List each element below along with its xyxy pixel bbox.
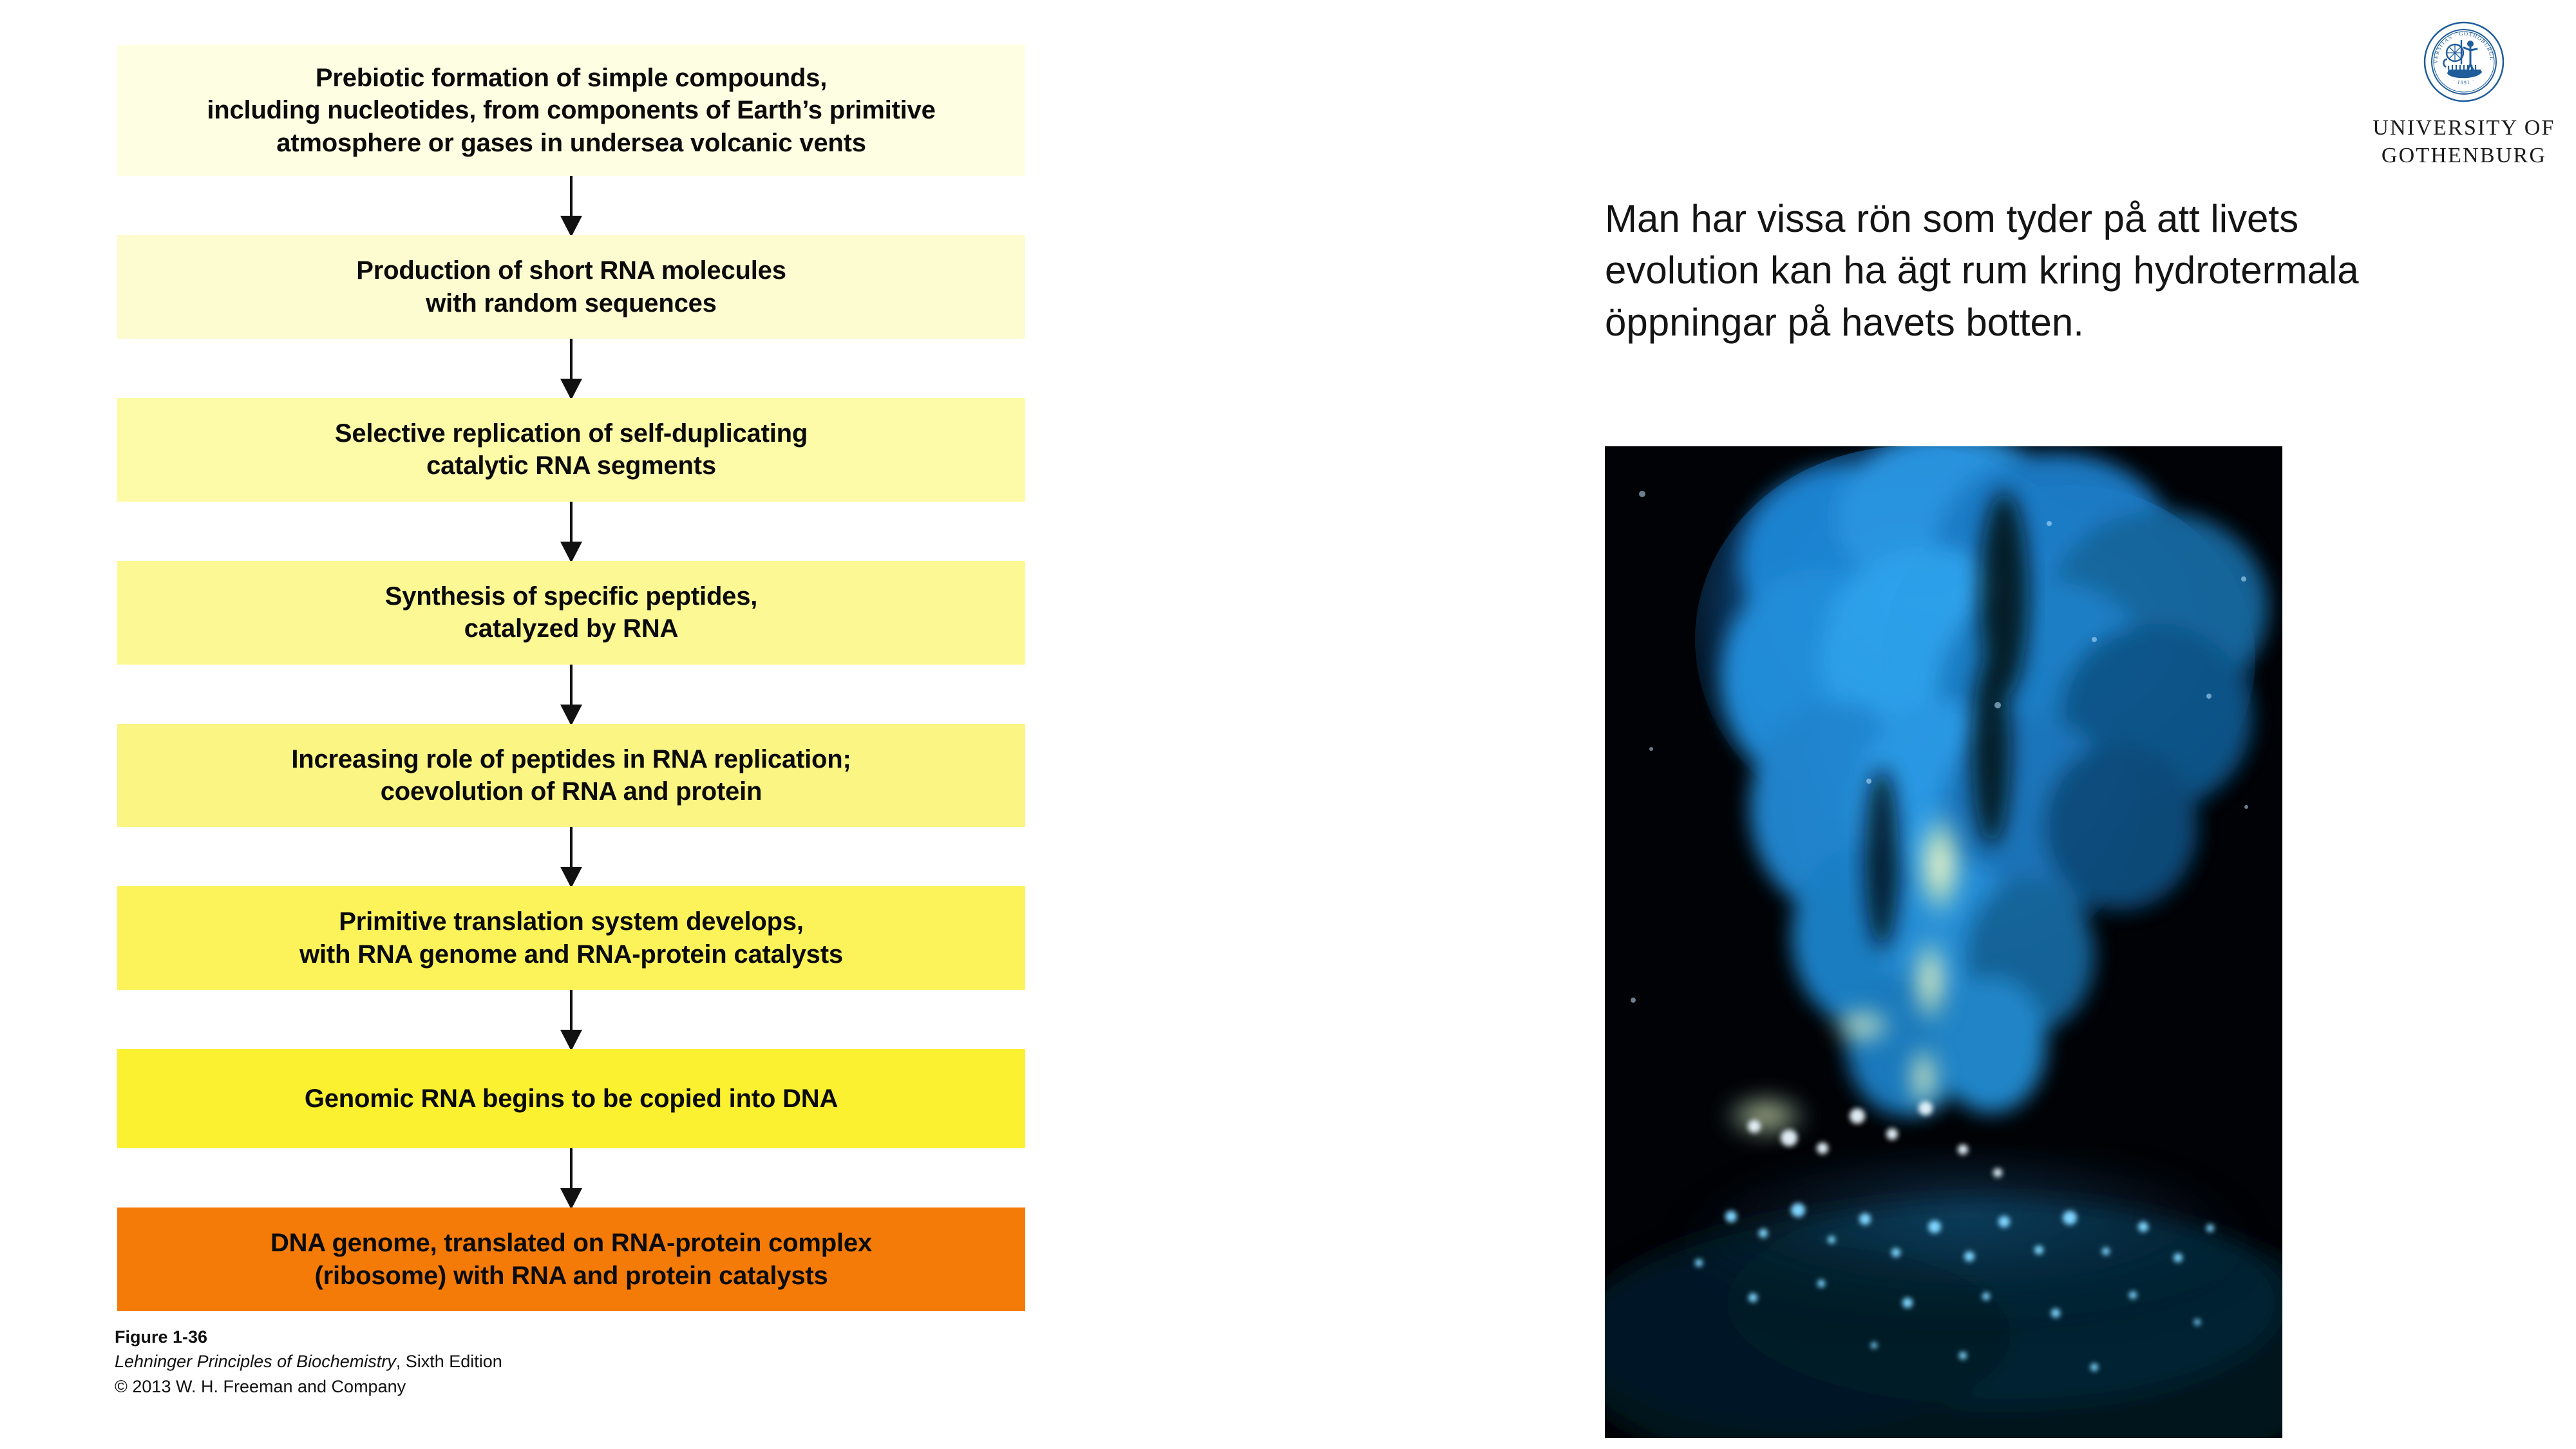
flow-box-4-line-2: catalyzed by RNA <box>129 612 1014 645</box>
flow-box-5: Increasing role of peptides in RNA repli… <box>117 724 1025 828</box>
arrow-shaft <box>570 502 573 547</box>
flowchart-figure: Prebiotic formation of simple compounds,… <box>117 45 1025 1311</box>
flow-box-6-line-1: Primitive translation system develops, <box>129 905 1014 938</box>
flow-box-8: DNA genome, translated on RNA-protein co… <box>117 1207 1025 1311</box>
flow-box-6-line-2: with RNA genome and RNA-protein catalyst… <box>129 938 1014 971</box>
arrow-head-icon <box>560 1188 582 1209</box>
arrow-shaft <box>570 339 573 384</box>
flow-box-3-line-1: Selective replication of self-duplicatin… <box>129 417 1014 450</box>
svg-text:· 1891 ·: · 1891 · <box>2452 77 2476 86</box>
figure-copyright: © 2013 W. H. Freeman and Company <box>115 1374 1081 1399</box>
arrow-head-icon <box>560 1030 582 1051</box>
logo-wordmark-line-2: GOTHENBURG <box>2367 142 2561 170</box>
flow-box-3: Selective replication of self-duplicatin… <box>117 398 1025 502</box>
flow-arrow-6 <box>117 990 1025 1049</box>
flow-box-8-line-2: (ribosome) with RNA and protein catalyst… <box>129 1260 1014 1292</box>
arrow-shaft <box>570 990 573 1035</box>
arrow-shaft <box>570 665 573 710</box>
arrow-head-icon <box>560 867 582 888</box>
figure-number: Figure 1-36 <box>115 1325 1081 1349</box>
hydrothermal-vent-photo <box>1605 446 2282 1438</box>
flow-box-6: Primitive translation system develops, w… <box>117 886 1025 990</box>
flow-box-1-line-2: including nucleotides, from components o… <box>129 94 1014 126</box>
flow-arrow-1 <box>117 176 1025 235</box>
arrow-head-icon <box>560 216 582 237</box>
flow-box-8-line-1: DNA genome, translated on RNA-protein co… <box>129 1227 1014 1259</box>
flow-box-5-line-1: Increasing role of peptides in RNA repli… <box>129 743 1014 775</box>
flow-box-2: Production of short RNA molecules with r… <box>117 235 1025 339</box>
university-logo: UNIVERSITAS · GOTHOBURGENSIS · 1891 · UN… <box>2367 21 2561 170</box>
arrow-shaft <box>570 1148 573 1193</box>
flow-arrow-5 <box>117 827 1025 886</box>
flow-arrow-7 <box>117 1148 1025 1207</box>
flow-box-7: Genomic RNA begins to be copied into DNA <box>117 1049 1025 1148</box>
flow-arrow-4 <box>117 665 1025 724</box>
flow-arrow-2 <box>117 339 1025 398</box>
flow-box-2-line-1: Production of short RNA molecules <box>129 254 1014 287</box>
flow-box-3-line-2: catalytic RNA segments <box>129 450 1014 482</box>
flow-box-1-line-1: Prebiotic formation of simple compounds, <box>129 62 1014 94</box>
arrow-head-icon <box>560 379 582 400</box>
vent-photo-graphic <box>1605 446 2282 1438</box>
flow-box-7-line-1: Genomic RNA begins to be copied into DNA <box>129 1083 1014 1115</box>
arrow-shaft <box>570 176 573 221</box>
flow-arrow-3 <box>117 502 1025 561</box>
arrow-head-icon <box>560 705 582 726</box>
flow-box-2-line-2: with random sequences <box>129 287 1014 319</box>
flow-box-5-line-2: coevolution of RNA and protein <box>129 775 1014 808</box>
logo-wordmark-line-1: UNIVERSITY OF <box>2367 115 2561 142</box>
university-seal-icon: UNIVERSITAS · GOTHOBURGENSIS · 1891 · <box>2423 21 2505 103</box>
figure-source: Lehninger Principles of Biochemistry, Si… <box>115 1349 1081 1374</box>
arrow-shaft <box>570 827 573 872</box>
figure-book-title: Lehninger Principles of Biochemistry <box>115 1352 396 1371</box>
figure-edition: , Sixth Edition <box>396 1352 502 1371</box>
flow-box-1-line-3: atmosphere or gases in undersea volcanic… <box>129 127 1014 159</box>
arrow-head-icon <box>560 542 582 563</box>
flow-box-4: Synthesis of specific peptides, catalyze… <box>117 561 1025 665</box>
flow-box-4-line-1: Synthesis of specific peptides, <box>129 580 1014 612</box>
figure-caption: Figure 1-36 Lehninger Principles of Bioc… <box>115 1325 1081 1399</box>
flow-box-1: Prebiotic formation of simple compounds,… <box>117 45 1025 176</box>
body-paragraph: Man har vissa rön som tyder på att livet… <box>1605 193 2365 348</box>
logo-wordmark: UNIVERSITY OF GOTHENBURG <box>2367 115 2561 170</box>
